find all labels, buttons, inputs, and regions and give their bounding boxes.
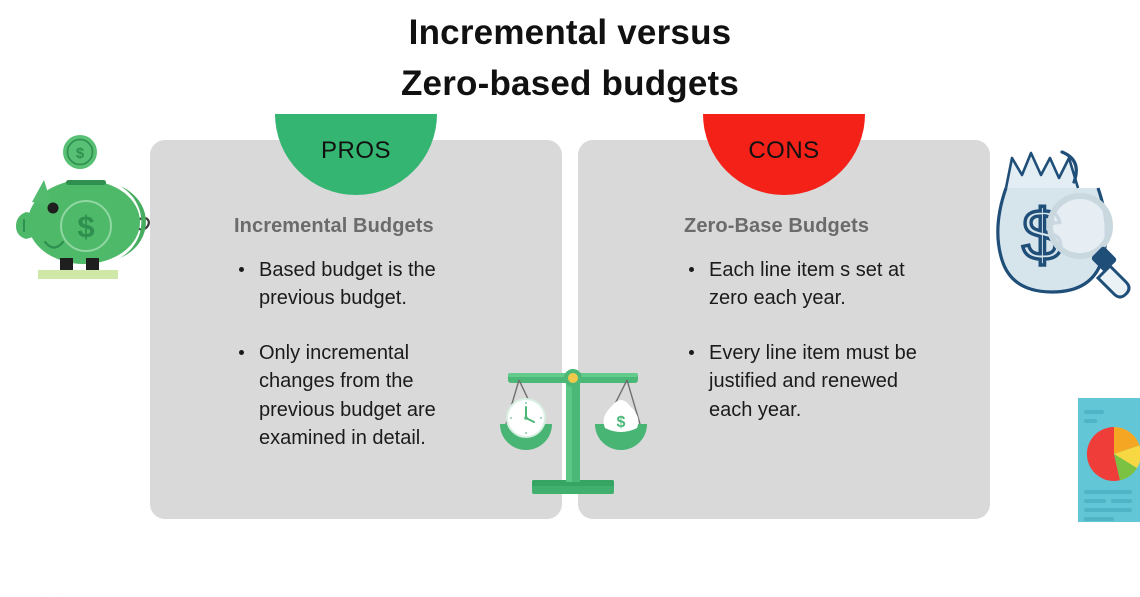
balance-scale-illustration: $ (492, 362, 654, 500)
report-pie-chart-illustration (1078, 398, 1140, 522)
infographic-canvas: Incremental versus Zero-based budgets PR… (0, 0, 1140, 597)
cons-column-heading: Zero-Base Budgets (684, 215, 869, 238)
cons-bullet-list: Each line item s set at zero each year. … (684, 256, 929, 450)
svg-text:$: $ (76, 145, 85, 162)
list-item: Each line item s set at zero each year. (684, 256, 929, 313)
svg-text:$: $ (77, 209, 94, 244)
report-pie-chart-icon (1078, 398, 1140, 522)
money-bag-magnifier-illustration: $ (986, 132, 1138, 312)
piggy-bank-icon: $ $ (8, 130, 173, 290)
page-title-line-2: Zero-based budgets (0, 59, 1140, 110)
list-item: Every line item must be justified and re… (684, 339, 929, 424)
pros-bullet-list: Based budget is the previous budget. Onl… (234, 256, 479, 478)
page-title: Incremental versus Zero-based budgets (0, 8, 1140, 110)
page-title-line-1: Incremental versus (0, 8, 1140, 59)
cutoff-footer-label: ........ (0, 586, 1140, 597)
piggy-bank-illustration: $ $ (8, 130, 173, 290)
cutoff-footer-text: ........ (0, 586, 1140, 597)
pros-column-heading: Incremental Budgets (234, 215, 434, 238)
list-item: Based budget is the previous budget. (234, 256, 479, 313)
cons-badge-label: CONS (748, 137, 819, 165)
svg-text:$: $ (617, 414, 626, 431)
balance-scale-icon: $ (492, 362, 654, 500)
money-bag-magnifier-icon: $ (986, 132, 1138, 312)
pros-badge-label: PROS (321, 137, 391, 165)
list-item: Only incremental changes from the previo… (234, 339, 479, 453)
